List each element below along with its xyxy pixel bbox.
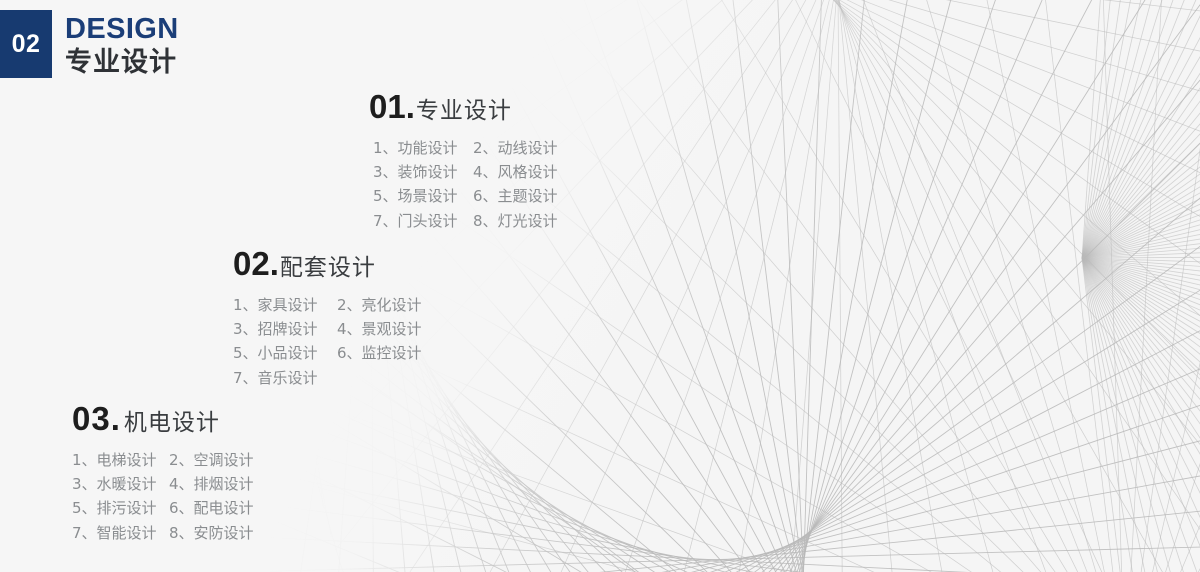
list-cell: 2、亮化设计 bbox=[337, 293, 422, 317]
list-cell: 5、场景设计 bbox=[373, 184, 473, 208]
block-02-number: 02. bbox=[233, 245, 279, 283]
list-cell: 8、灯光设计 bbox=[473, 209, 558, 233]
slide-root: 02 DESIGN 专业设计 01. 专业设计 1、功能设计 2、动线设计 3、… bbox=[0, 0, 1200, 572]
list-cell: 1、电梯设计 bbox=[72, 448, 169, 472]
block-02-title: 02. 配套设计 bbox=[233, 245, 422, 283]
block-02-list: 1、家具设计 2、亮化设计 3、招牌设计 4、景观设计 5、小品设计 6、监控设… bbox=[233, 293, 422, 390]
block-03-number: 03. bbox=[72, 400, 121, 438]
list-item: 7、音乐设计 bbox=[233, 366, 422, 390]
content-block-01: 01. 专业设计 1、功能设计 2、动线设计 3、装饰设计 4、风格设计 5、场… bbox=[369, 88, 558, 233]
block-03-list: 1、电梯设计 2、空调设计 3、水暖设计 4、排烟设计 5、排污设计 6、配电设… bbox=[72, 448, 254, 545]
content-block-03: 03. 机电设计 1、电梯设计 2、空调设计 3、水暖设计 4、排烟设计 5、排… bbox=[72, 400, 254, 545]
block-03-title: 03. 机电设计 bbox=[72, 400, 254, 438]
list-cell: 5、排污设计 bbox=[72, 496, 169, 520]
list-item: 1、家具设计 2、亮化设计 bbox=[233, 293, 422, 317]
list-cell: 2、动线设计 bbox=[473, 136, 558, 160]
list-cell: 3、装饰设计 bbox=[373, 160, 473, 184]
block-02-name: 配套设计 bbox=[280, 248, 376, 282]
section-title-cn: 专业设计 bbox=[65, 49, 179, 76]
list-item: 1、电梯设计 2、空调设计 bbox=[72, 448, 254, 472]
block-01-list: 1、功能设计 2、动线设计 3、装饰设计 4、风格设计 5、场景设计 6、主题设… bbox=[373, 136, 558, 233]
list-cell: 3、水暖设计 bbox=[72, 472, 169, 496]
list-item: 7、智能设计 8、安防设计 bbox=[72, 521, 254, 545]
list-cell: 4、排烟设计 bbox=[169, 472, 254, 496]
list-cell: 6、主题设计 bbox=[473, 184, 558, 208]
list-cell: 8、安防设计 bbox=[169, 521, 254, 545]
list-cell: 7、音乐设计 bbox=[233, 366, 337, 390]
content-block-02: 02. 配套设计 1、家具设计 2、亮化设计 3、招牌设计 4、景观设计 5、小… bbox=[233, 245, 422, 390]
block-03-name: 机电设计 bbox=[124, 403, 220, 437]
list-item: 3、水暖设计 4、排烟设计 bbox=[72, 472, 254, 496]
list-cell: 6、配电设计 bbox=[169, 496, 254, 520]
list-cell: 1、家具设计 bbox=[233, 293, 337, 317]
section-header-text: DESIGN 专业设计 bbox=[65, 12, 179, 78]
list-cell: 3、招牌设计 bbox=[233, 317, 337, 341]
block-01-number: 01. bbox=[369, 88, 415, 126]
list-cell: 1、功能设计 bbox=[373, 136, 473, 160]
section-title-en: DESIGN bbox=[65, 15, 179, 44]
list-item: 5、小品设计 6、监控设计 bbox=[233, 341, 422, 365]
list-item: 5、场景设计 6、主题设计 bbox=[373, 184, 558, 208]
list-item: 3、招牌设计 4、景观设计 bbox=[233, 317, 422, 341]
list-cell: 4、风格设计 bbox=[473, 160, 558, 184]
list-item: 3、装饰设计 4、风格设计 bbox=[373, 160, 558, 184]
section-header: 02 DESIGN 专业设计 bbox=[0, 0, 179, 78]
list-cell: 4、景观设计 bbox=[337, 317, 422, 341]
section-number-badge: 02 bbox=[0, 10, 52, 78]
list-cell: 2、空调设计 bbox=[169, 448, 254, 472]
list-item: 1、功能设计 2、动线设计 bbox=[373, 136, 558, 160]
list-item: 7、门头设计 8、灯光设计 bbox=[373, 209, 558, 233]
list-cell: 7、智能设计 bbox=[72, 521, 169, 545]
block-01-title: 01. 专业设计 bbox=[369, 88, 558, 126]
list-cell: 7、门头设计 bbox=[373, 209, 473, 233]
list-cell: 6、监控设计 bbox=[337, 341, 422, 365]
list-cell: 5、小品设计 bbox=[233, 341, 337, 365]
list-item: 5、排污设计 6、配电设计 bbox=[72, 496, 254, 520]
block-01-name: 专业设计 bbox=[416, 91, 512, 125]
